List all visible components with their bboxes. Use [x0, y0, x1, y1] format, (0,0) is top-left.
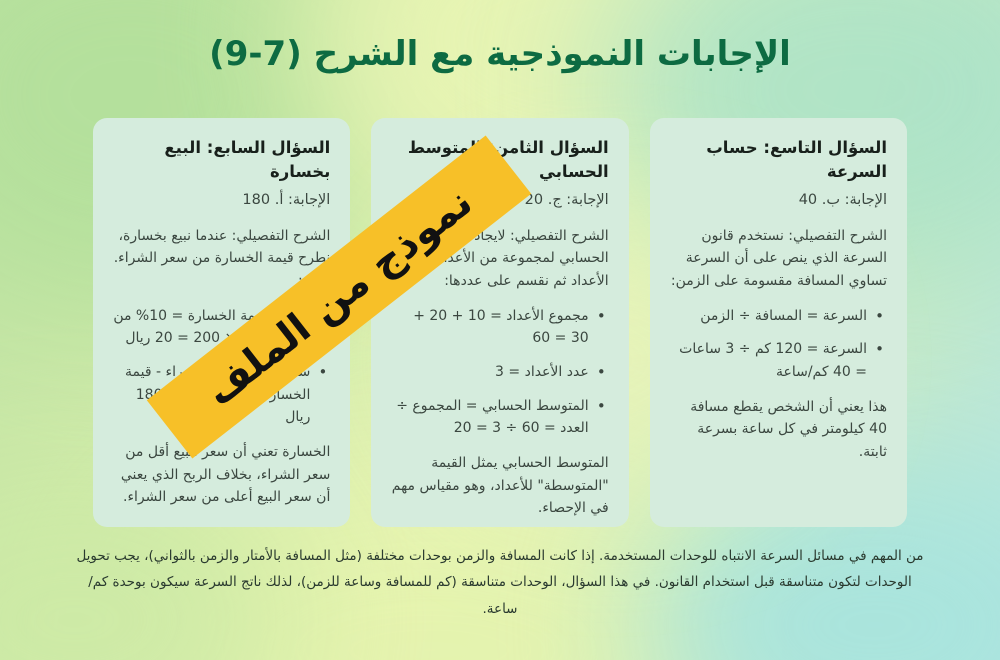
- card-explanation: الشرح التفصيلي: لايجاد المتوسط الحسابي ل…: [391, 225, 608, 293]
- answer-card-question-nine: السؤال التاسع: حساب السرعة الإجابة: ب. 4…: [650, 118, 907, 527]
- list-item: السرعة = 120 كم ÷ 3 ساعات = 40 كم/ساعة: [670, 338, 869, 383]
- card-title: السؤال السابع: البيع بخسارة: [113, 136, 330, 184]
- card-answer: الإجابة: أ. 180: [113, 190, 330, 212]
- card-bullet-list: نحسب قيمة الخسارة = 10% من 200 = 0.1 × 2…: [113, 305, 330, 429]
- footer-note: من المهم في مسائل السرعة الانتباه للوحدا…: [72, 543, 928, 622]
- card-note: المتوسط الحسابي يمثل القيمة "المتوسطة" ل…: [391, 452, 608, 520]
- card-answer: الإجابة: ج. 20: [391, 190, 608, 212]
- card-note: الخسارة تعني أن سعر البيع أقل من سعر الش…: [113, 441, 330, 509]
- list-item: مجموع الأعداد = 10 + 20 + 30 = 60: [391, 305, 590, 350]
- slide-canvas: الإجابات النموذجية مع الشرح (7-9) السؤال…: [0, 0, 1000, 660]
- card-bullet-list: السرعة = المسافة ÷ الزمن السرعة = 120 كم…: [670, 305, 887, 384]
- answer-card-question-seven: السؤال السابع: البيع بخسارة الإجابة: أ. …: [93, 118, 350, 527]
- card-title: السؤال التاسع: حساب السرعة: [670, 136, 887, 184]
- list-item: السرعة = المسافة ÷ الزمن: [670, 305, 869, 328]
- page-title: الإجابات النموذجية مع الشرح (7-9): [86, 32, 914, 76]
- list-item: سعر البيع = سعر الشراء - قيمة الخسارة = …: [113, 361, 312, 429]
- card-note: هذا يعني أن الشخص يقطع مسافة 40 كيلومتر …: [670, 396, 887, 464]
- answer-cards-row: السؤال التاسع: حساب السرعة الإجابة: ب. 4…: [93, 118, 907, 527]
- list-item: نحسب قيمة الخسارة = 10% من 200 = 0.1 × 2…: [113, 305, 312, 350]
- list-item: المتوسط الحسابي = المجموع ÷ العدد = 60 ÷…: [391, 395, 590, 440]
- card-answer: الإجابة: ب. 40: [670, 190, 887, 212]
- card-explanation: الشرح التفصيلي: عندما نبيع بخسارة، نطرح …: [113, 225, 330, 293]
- card-title: السؤال الثامن: المتوسط الحسابي: [391, 136, 608, 184]
- card-bullet-list: مجموع الأعداد = 10 + 20 + 30 = 60 عدد ال…: [391, 305, 608, 440]
- list-item: عدد الأعداد = 3: [391, 361, 590, 384]
- card-explanation: الشرح التفصيلي: نستخدم قانون السرعة الذي…: [670, 225, 887, 293]
- answer-card-question-eight: السؤال الثامن: المتوسط الحسابي الإجابة: …: [371, 118, 628, 527]
